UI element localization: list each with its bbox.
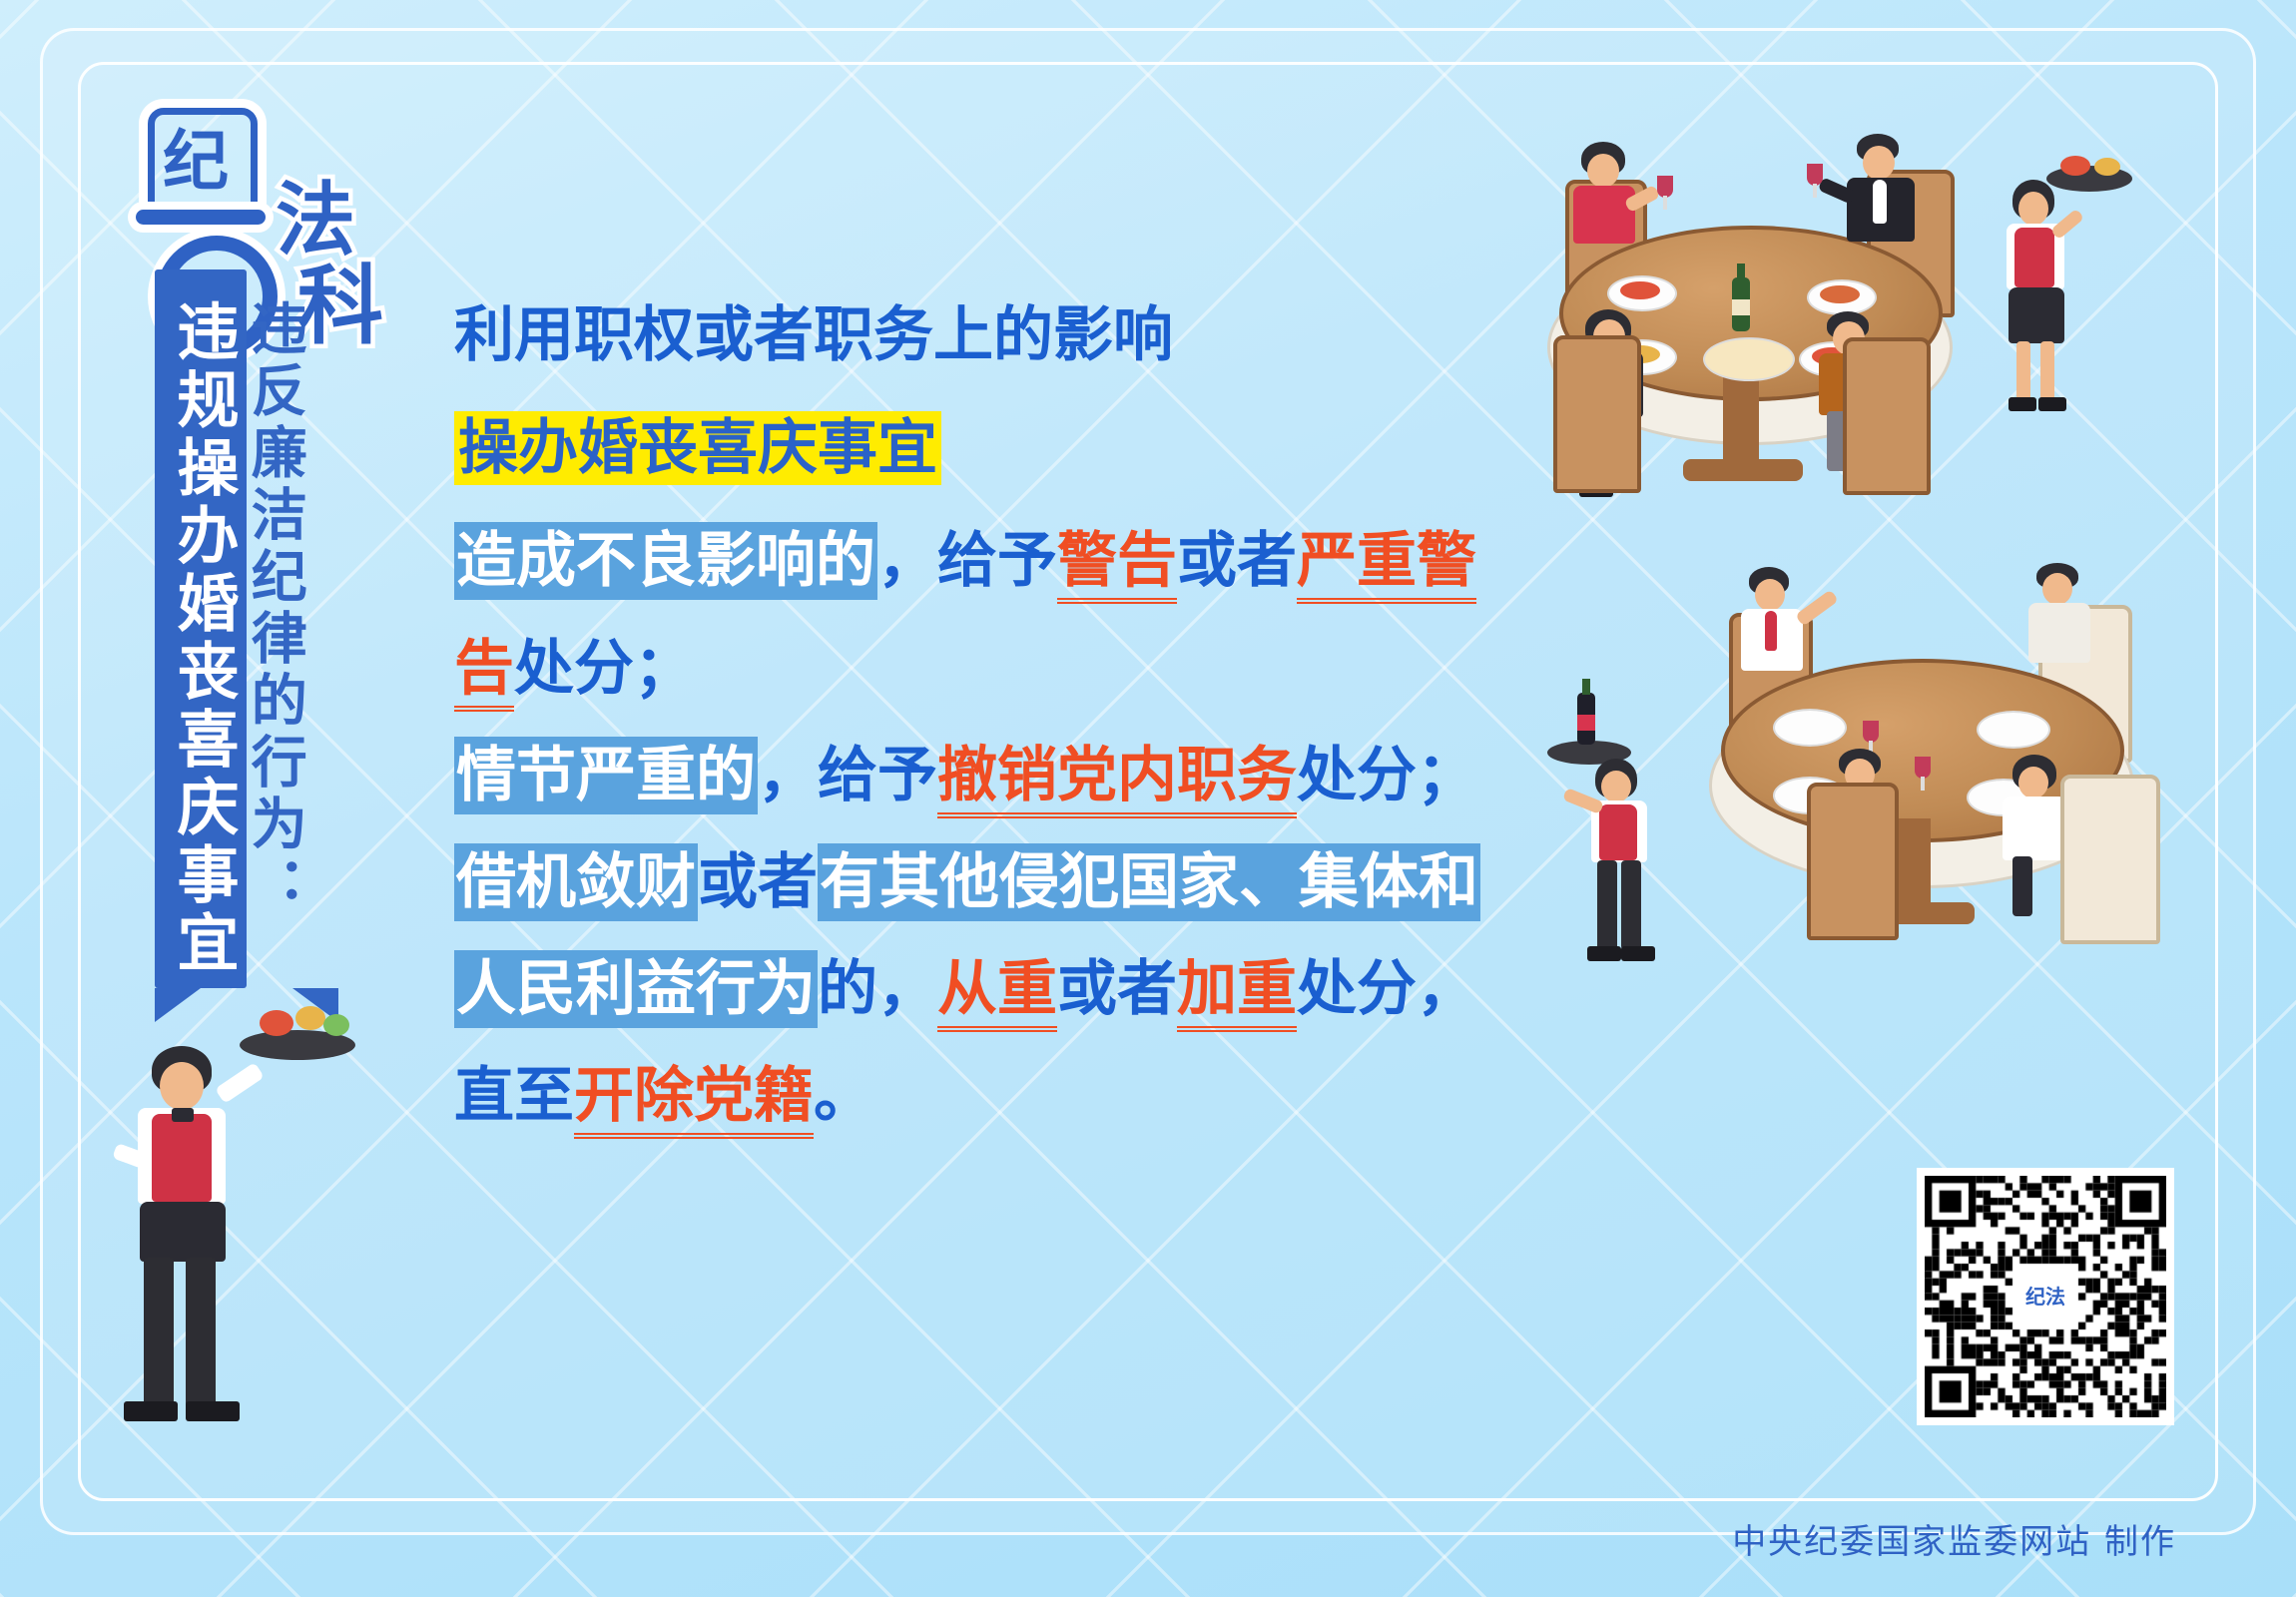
text-segment-blue: 利用职权或者职务上的影响 — [454, 300, 1173, 370]
text-segment-blue: 直至 — [454, 1061, 574, 1131]
regulation-text-block: 利用职权或者职务上的影响操办婚丧喜庆事宜造成不良影响的，给予警告或者严重警告处分… — [454, 299, 1572, 1168]
text-segment-hl-blue: 情节严重的 — [454, 737, 758, 814]
text-segment-red: 告 — [454, 634, 514, 712]
qr-center-logo: 纪法 — [2016, 1268, 2074, 1326]
text-segment-hl-yellow: 操办婚丧喜庆事宜 — [454, 411, 941, 485]
text-segment-blue: 处分； — [1297, 741, 1476, 810]
regulation-line-7: 人民利益行为的，从重或者加重处分， — [454, 953, 1572, 1026]
banner-subtitle-vertical: 违反廉洁纪律的行为： — [245, 299, 302, 918]
text-segment-red: 加重 — [1177, 954, 1297, 1032]
text-segment-hl-blue: 人民利益行为 — [454, 950, 818, 1028]
regulation-line-6: 借机敛财或者有其他侵犯国家、集体和 — [454, 846, 1572, 919]
regulation-line-3: 造成不良影响的，给予警告或者严重警 — [454, 525, 1572, 598]
regulation-line-4: 告处分； — [454, 633, 1572, 706]
logo-bai-top-stroke — [136, 210, 266, 225]
text-segment-red: 从重 — [937, 954, 1057, 1032]
text-segment-red: 撤销党内职务 — [937, 741, 1297, 818]
text-segment-blue: ，给予 — [877, 526, 1057, 596]
regulation-line-1: 利用职权或者职务上的影响 — [454, 299, 1572, 372]
poster-root: 纪 法 科 违规操办婚丧喜庆事宜 违反廉洁纪律的行为： 利用职权或者职务上的影响… — [0, 0, 2296, 1597]
banner-title-vertical: 违规操办婚丧喜庆事宜 — [170, 299, 234, 978]
text-segment-red: 警告 — [1057, 526, 1177, 604]
illustration-banquet-middle-right — [1647, 559, 2296, 998]
text-segment-hl-blue: 借机敛财 — [454, 843, 698, 921]
text-segment-red: 严重警 — [1297, 526, 1476, 604]
logo-char-ji: 纪 — [148, 108, 244, 204]
illustration-banquet-top-right — [1487, 130, 2166, 549]
logo-char-ke: 科 — [297, 236, 383, 360]
text-segment-blue: ，给予 — [758, 741, 937, 810]
qr-code[interactable]: 纪法 — [1917, 1168, 2174, 1425]
qr-center-label: 纪法 — [2025, 1287, 2065, 1307]
text-segment-blue: 处分； — [514, 634, 694, 704]
regulation-line-2: 操办婚丧喜庆事宜 — [454, 412, 1572, 485]
text-segment-blue: 处分， — [1297, 954, 1476, 1024]
text-segment-blue: 或者 — [1177, 526, 1297, 596]
text-segment-hl-blue: 造成不良影响的 — [454, 522, 877, 600]
brand-logo: 纪 法 科 — [130, 98, 449, 297]
text-segment-blue: 的， — [818, 954, 937, 1024]
footer-credit: 中央纪委国家监委网站 制作 — [1732, 1514, 2176, 1563]
regulation-line-8: 直至开除党籍。 — [454, 1060, 1572, 1133]
illustration-waiter-bottom-left — [110, 988, 429, 1457]
text-segment-red: 开除党籍 — [574, 1061, 814, 1139]
text-segment-blue: 或者 — [698, 847, 818, 917]
regulation-line-5: 情节严重的，给予撤销党内职务处分； — [454, 740, 1572, 812]
text-segment-hl-blue: 有其他侵犯国家、集体和 — [818, 843, 1480, 921]
text-segment-blue: 。 — [814, 1061, 873, 1131]
text-segment-blue: 或者 — [1057, 954, 1177, 1024]
